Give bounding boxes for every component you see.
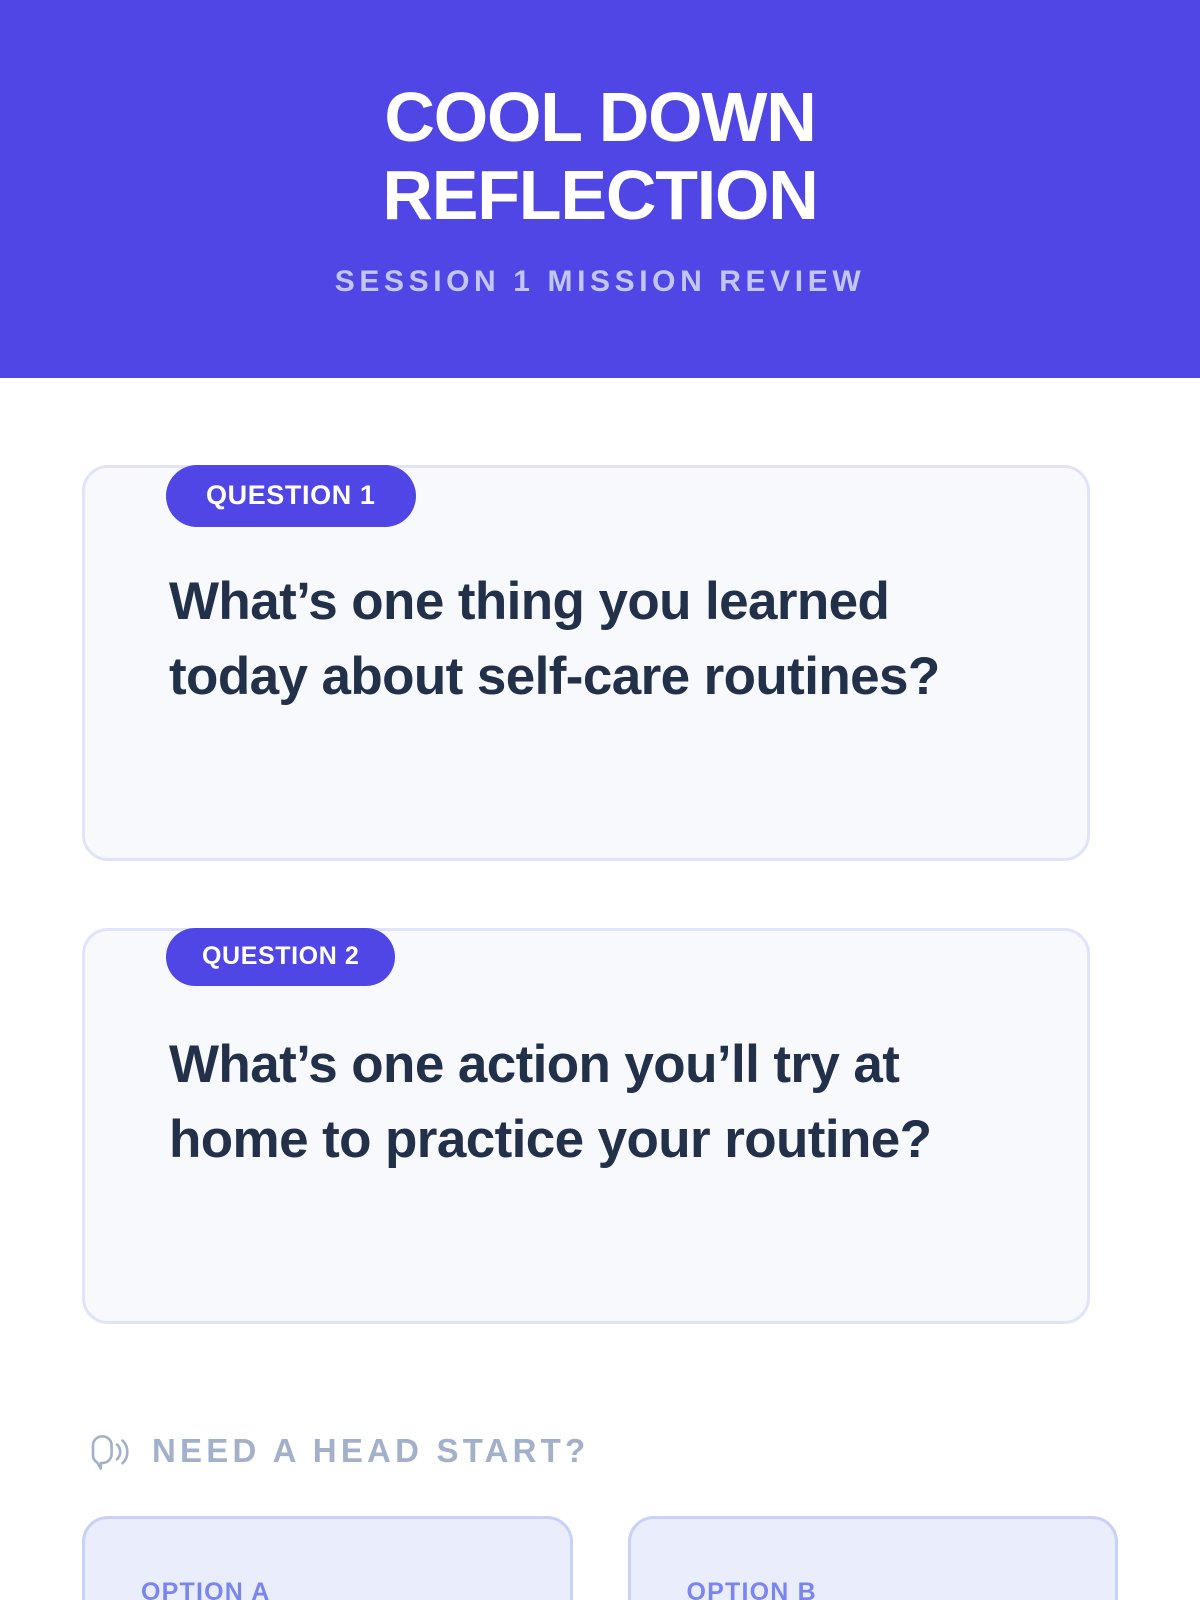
question-1-text: What’s one thing you learned today about… [169, 564, 1003, 714]
question-block-1: QUESTION 1 What’s one thing you learned … [82, 465, 1118, 861]
page-header: COOL DOWN REFLECTION SESSION 1 MISSION R… [0, 0, 1200, 378]
question-2-card[interactable]: What’s one action you’ll try at home to … [82, 928, 1090, 1324]
main-content: QUESTION 1 What’s one thing you learned … [0, 465, 1200, 1600]
option-card-a[interactable]: OPTION A [82, 1516, 573, 1600]
cool-down-reflection-screen: COOL DOWN REFLECTION SESSION 1 MISSION R… [0, 0, 1200, 1600]
option-cards-row: OPTION A OPTION B [82, 1516, 1118, 1600]
option-a-label: OPTION A [141, 1577, 514, 1600]
option-card-b[interactable]: OPTION B [628, 1516, 1119, 1600]
head-start-section: NEED A HEAD START? [82, 1428, 1118, 1474]
question-2-badge: QUESTION 2 [166, 928, 395, 986]
question-1-badge: QUESTION 1 [166, 465, 416, 527]
page-subtitle: SESSION 1 MISSION REVIEW [335, 264, 866, 300]
page-title: COOL DOWN REFLECTION [220, 78, 980, 234]
head-start-label: NEED A HEAD START? [152, 1432, 589, 1470]
question-2-text: What’s one action you’ll try at home to … [169, 1027, 1003, 1177]
option-b-label: OPTION B [687, 1577, 1060, 1600]
speech-bubble-sound-icon [84, 1428, 130, 1474]
question-block-2: QUESTION 2 What’s one action you’ll try … [82, 928, 1118, 1324]
